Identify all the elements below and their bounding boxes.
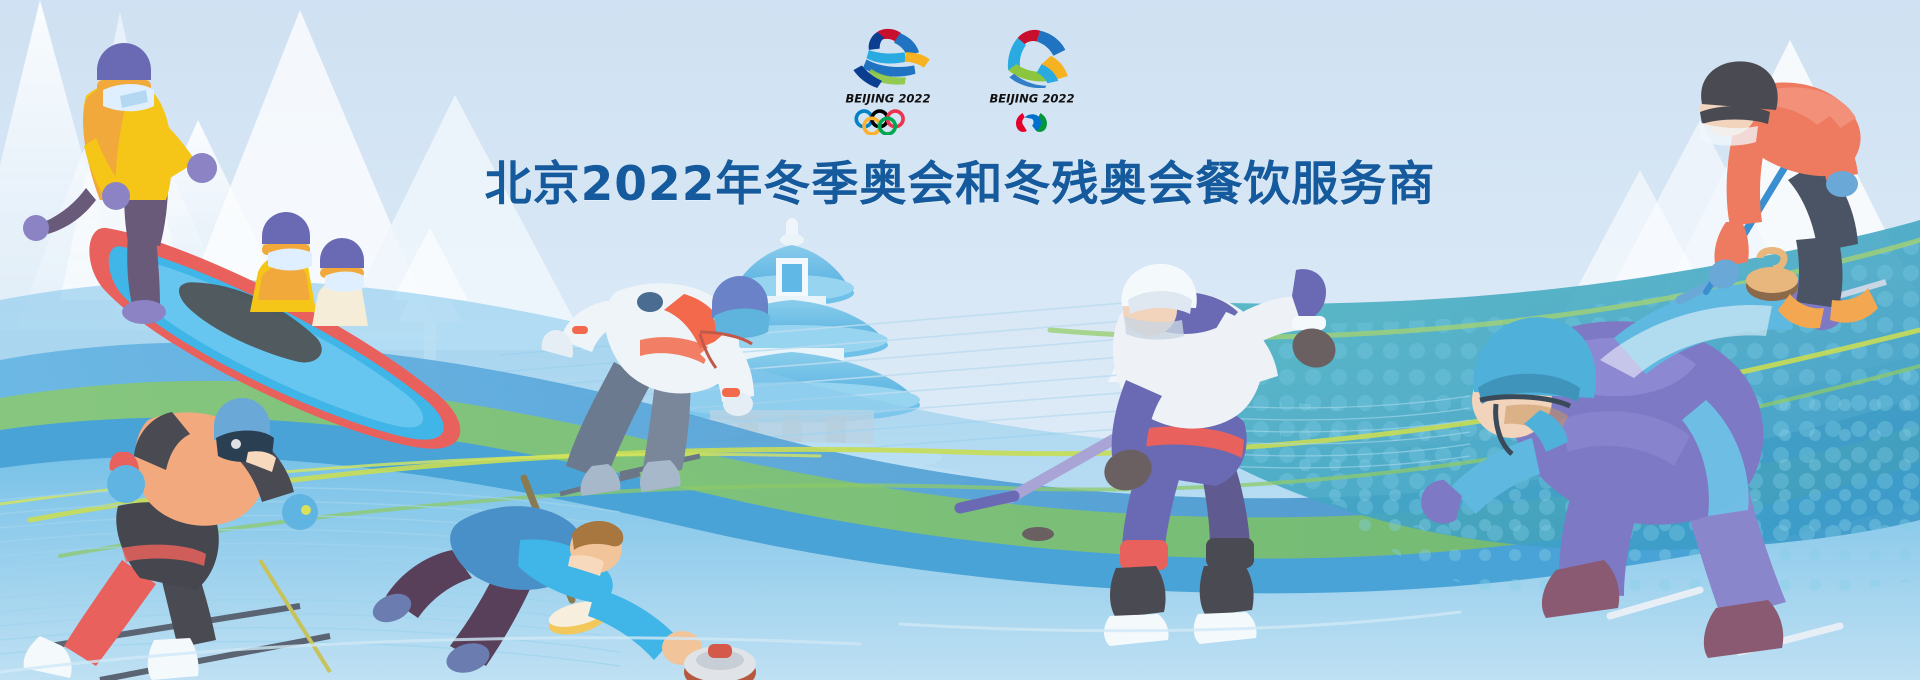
beijing-2022-olympic-emblem: BEIJING 2022 [833, 26, 943, 135]
page-title: 北京2022年冬季奥会和冬残奥会餐饮服务商 [0, 145, 1920, 214]
emblem-row: BEIJING 2022 [0, 0, 1920, 135]
olympic-wordmark-text: BEIJING 2022 [845, 92, 930, 106]
banner-header: BEIJING 2022 [0, 0, 1920, 214]
olympic-emblem-mark [840, 26, 936, 88]
paralympic-wordmark: BEIJING 2022 [981, 90, 1083, 107]
olympic-banner: BEIJING 2022 [0, 0, 1920, 680]
paralympic-emblem-mark [984, 26, 1080, 88]
olympic-wordmark: BEIJING 2022 [837, 90, 939, 107]
agitos-icon [989, 109, 1075, 135]
olympic-rings-icon [845, 109, 931, 135]
beijing-2022-paralympic-emblem: BEIJING 2022 [977, 26, 1087, 135]
paralympic-wordmark-text: BEIJING 2022 [989, 92, 1074, 106]
